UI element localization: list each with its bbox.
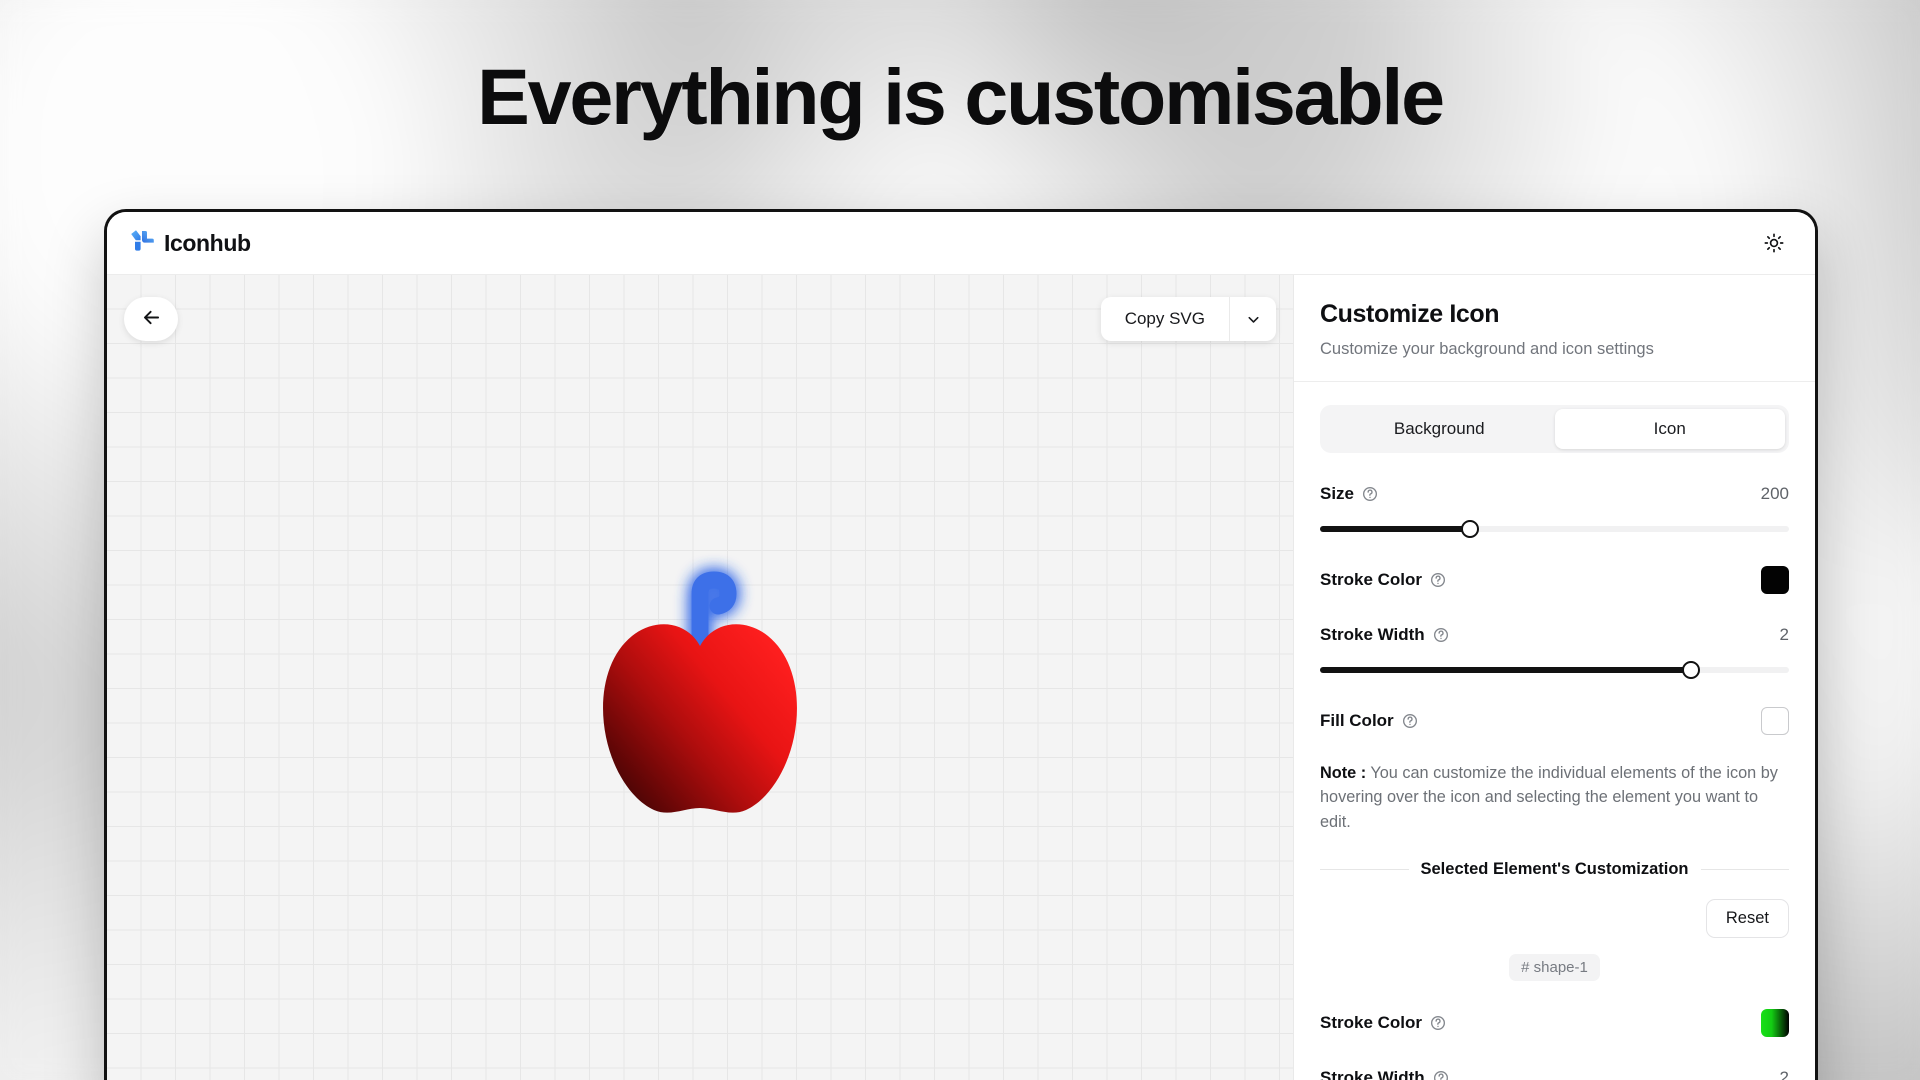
selected-stroke-color-swatch[interactable] [1761, 1009, 1789, 1037]
tab-icon[interactable]: Icon [1555, 409, 1786, 449]
question-circle-icon[interactable] [1430, 1015, 1446, 1031]
stroke-width-slider-thumb[interactable] [1682, 661, 1700, 679]
divider-line-right [1701, 869, 1790, 870]
stroke-width-slider[interactable] [1320, 661, 1789, 679]
question-circle-icon[interactable] [1433, 1070, 1449, 1080]
control-stroke-width-label: Stroke Width [1320, 625, 1425, 645]
selected-stroke-width-label-group: Stroke Width [1320, 1068, 1449, 1080]
hero-section: Everything is customisable [0, 56, 1920, 139]
tab-background[interactable]: Background [1324, 409, 1555, 449]
selected-stroke-width-value: 2 [1780, 1068, 1789, 1080]
control-fill-color-label-group: Fill Color [1320, 711, 1418, 731]
brand[interactable]: Iconhub [129, 228, 251, 259]
icon-canvas[interactable]: Copy SVG [107, 275, 1294, 1080]
divider-line-left [1320, 869, 1409, 870]
sun-icon[interactable] [1755, 224, 1793, 262]
question-circle-icon[interactable] [1362, 486, 1378, 502]
control-stroke-width-value: 2 [1780, 625, 1789, 645]
panel-header: Customize Icon Customize your background… [1294, 275, 1815, 382]
selected-element-row: # shape-1 [1320, 954, 1789, 981]
control-fill-color-label: Fill Color [1320, 711, 1394, 731]
size-slider-fill [1320, 526, 1470, 532]
selected-control-stroke-width: Stroke Width 2 [1320, 1065, 1789, 1080]
chevron-down-icon[interactable] [1229, 297, 1276, 341]
copy-svg-group: Copy SVG [1101, 297, 1276, 341]
selected-element-divider-label: Selected Element's Customization [1421, 860, 1689, 879]
selected-control-stroke-color: Stroke Color [1320, 1009, 1789, 1037]
arrow-left-icon [141, 307, 162, 331]
panel-tabs: Background Icon [1320, 405, 1789, 453]
selected-stroke-width-label: Stroke Width [1320, 1068, 1425, 1080]
app-body: Copy SVG [107, 275, 1815, 1080]
back-button[interactable] [124, 297, 178, 341]
selected-stroke-color-label-group: Stroke Color [1320, 1013, 1446, 1033]
note-body: You can customize the individual element… [1320, 764, 1778, 831]
app-window: Iconhub [104, 209, 1818, 1080]
control-size-row: Size 200 [1320, 481, 1789, 507]
question-circle-icon[interactable] [1402, 713, 1418, 729]
panel-scroll-area[interactable]: Background Icon Size [1294, 382, 1815, 1080]
size-slider[interactable] [1320, 520, 1789, 538]
copy-svg-button[interactable]: Copy SVG [1101, 297, 1229, 341]
question-circle-icon[interactable] [1433, 627, 1449, 643]
size-slider-thumb[interactable] [1461, 520, 1479, 538]
note-prefix: Note : [1320, 764, 1366, 782]
control-size: Size 200 [1320, 481, 1789, 538]
customize-panel: Customize Icon Customize your background… [1294, 275, 1815, 1080]
apple-icon[interactable] [530, 522, 870, 862]
stroke-width-slider-fill [1320, 667, 1691, 673]
control-fill-color: Fill Color [1320, 707, 1789, 735]
control-stroke-color-label-group: Stroke Color [1320, 570, 1446, 590]
reset-button[interactable]: Reset [1706, 899, 1789, 938]
selected-stroke-color-label: Stroke Color [1320, 1013, 1422, 1033]
selected-control-stroke-width-row: Stroke Width 2 [1320, 1065, 1789, 1080]
control-stroke-color-row: Stroke Color [1320, 566, 1789, 594]
stroke-color-swatch[interactable] [1761, 566, 1789, 594]
note-text: Note : You can customize the individual … [1320, 761, 1789, 834]
control-size-label: Size [1320, 484, 1354, 504]
app-topbar: Iconhub [107, 212, 1815, 275]
question-circle-icon[interactable] [1430, 572, 1446, 588]
control-size-value: 200 [1761, 484, 1789, 504]
control-stroke-color: Stroke Color [1320, 566, 1789, 594]
control-fill-color-row: Fill Color [1320, 707, 1789, 735]
page-title: Everything is customisable [0, 56, 1920, 139]
panel-title: Customize Icon [1320, 300, 1789, 329]
control-stroke-width-row: Stroke Width 2 [1320, 622, 1789, 648]
reset-row: Reset [1320, 899, 1789, 938]
panel-subtitle: Customize your background and icon setti… [1320, 340, 1789, 359]
brand-name: Iconhub [164, 230, 251, 257]
fill-color-swatch[interactable] [1761, 707, 1789, 735]
apple-body-shape [603, 624, 797, 812]
iconhub-logo-icon [129, 228, 155, 259]
control-stroke-width: Stroke Width 2 [1320, 622, 1789, 679]
control-stroke-color-label: Stroke Color [1320, 570, 1422, 590]
selected-control-stroke-color-row: Stroke Color [1320, 1009, 1789, 1037]
control-stroke-width-label-group: Stroke Width [1320, 625, 1449, 645]
selected-element-divider: Selected Element's Customization [1320, 860, 1789, 879]
selected-element-badge: # shape-1 [1509, 954, 1600, 981]
control-size-label-group: Size [1320, 484, 1378, 504]
